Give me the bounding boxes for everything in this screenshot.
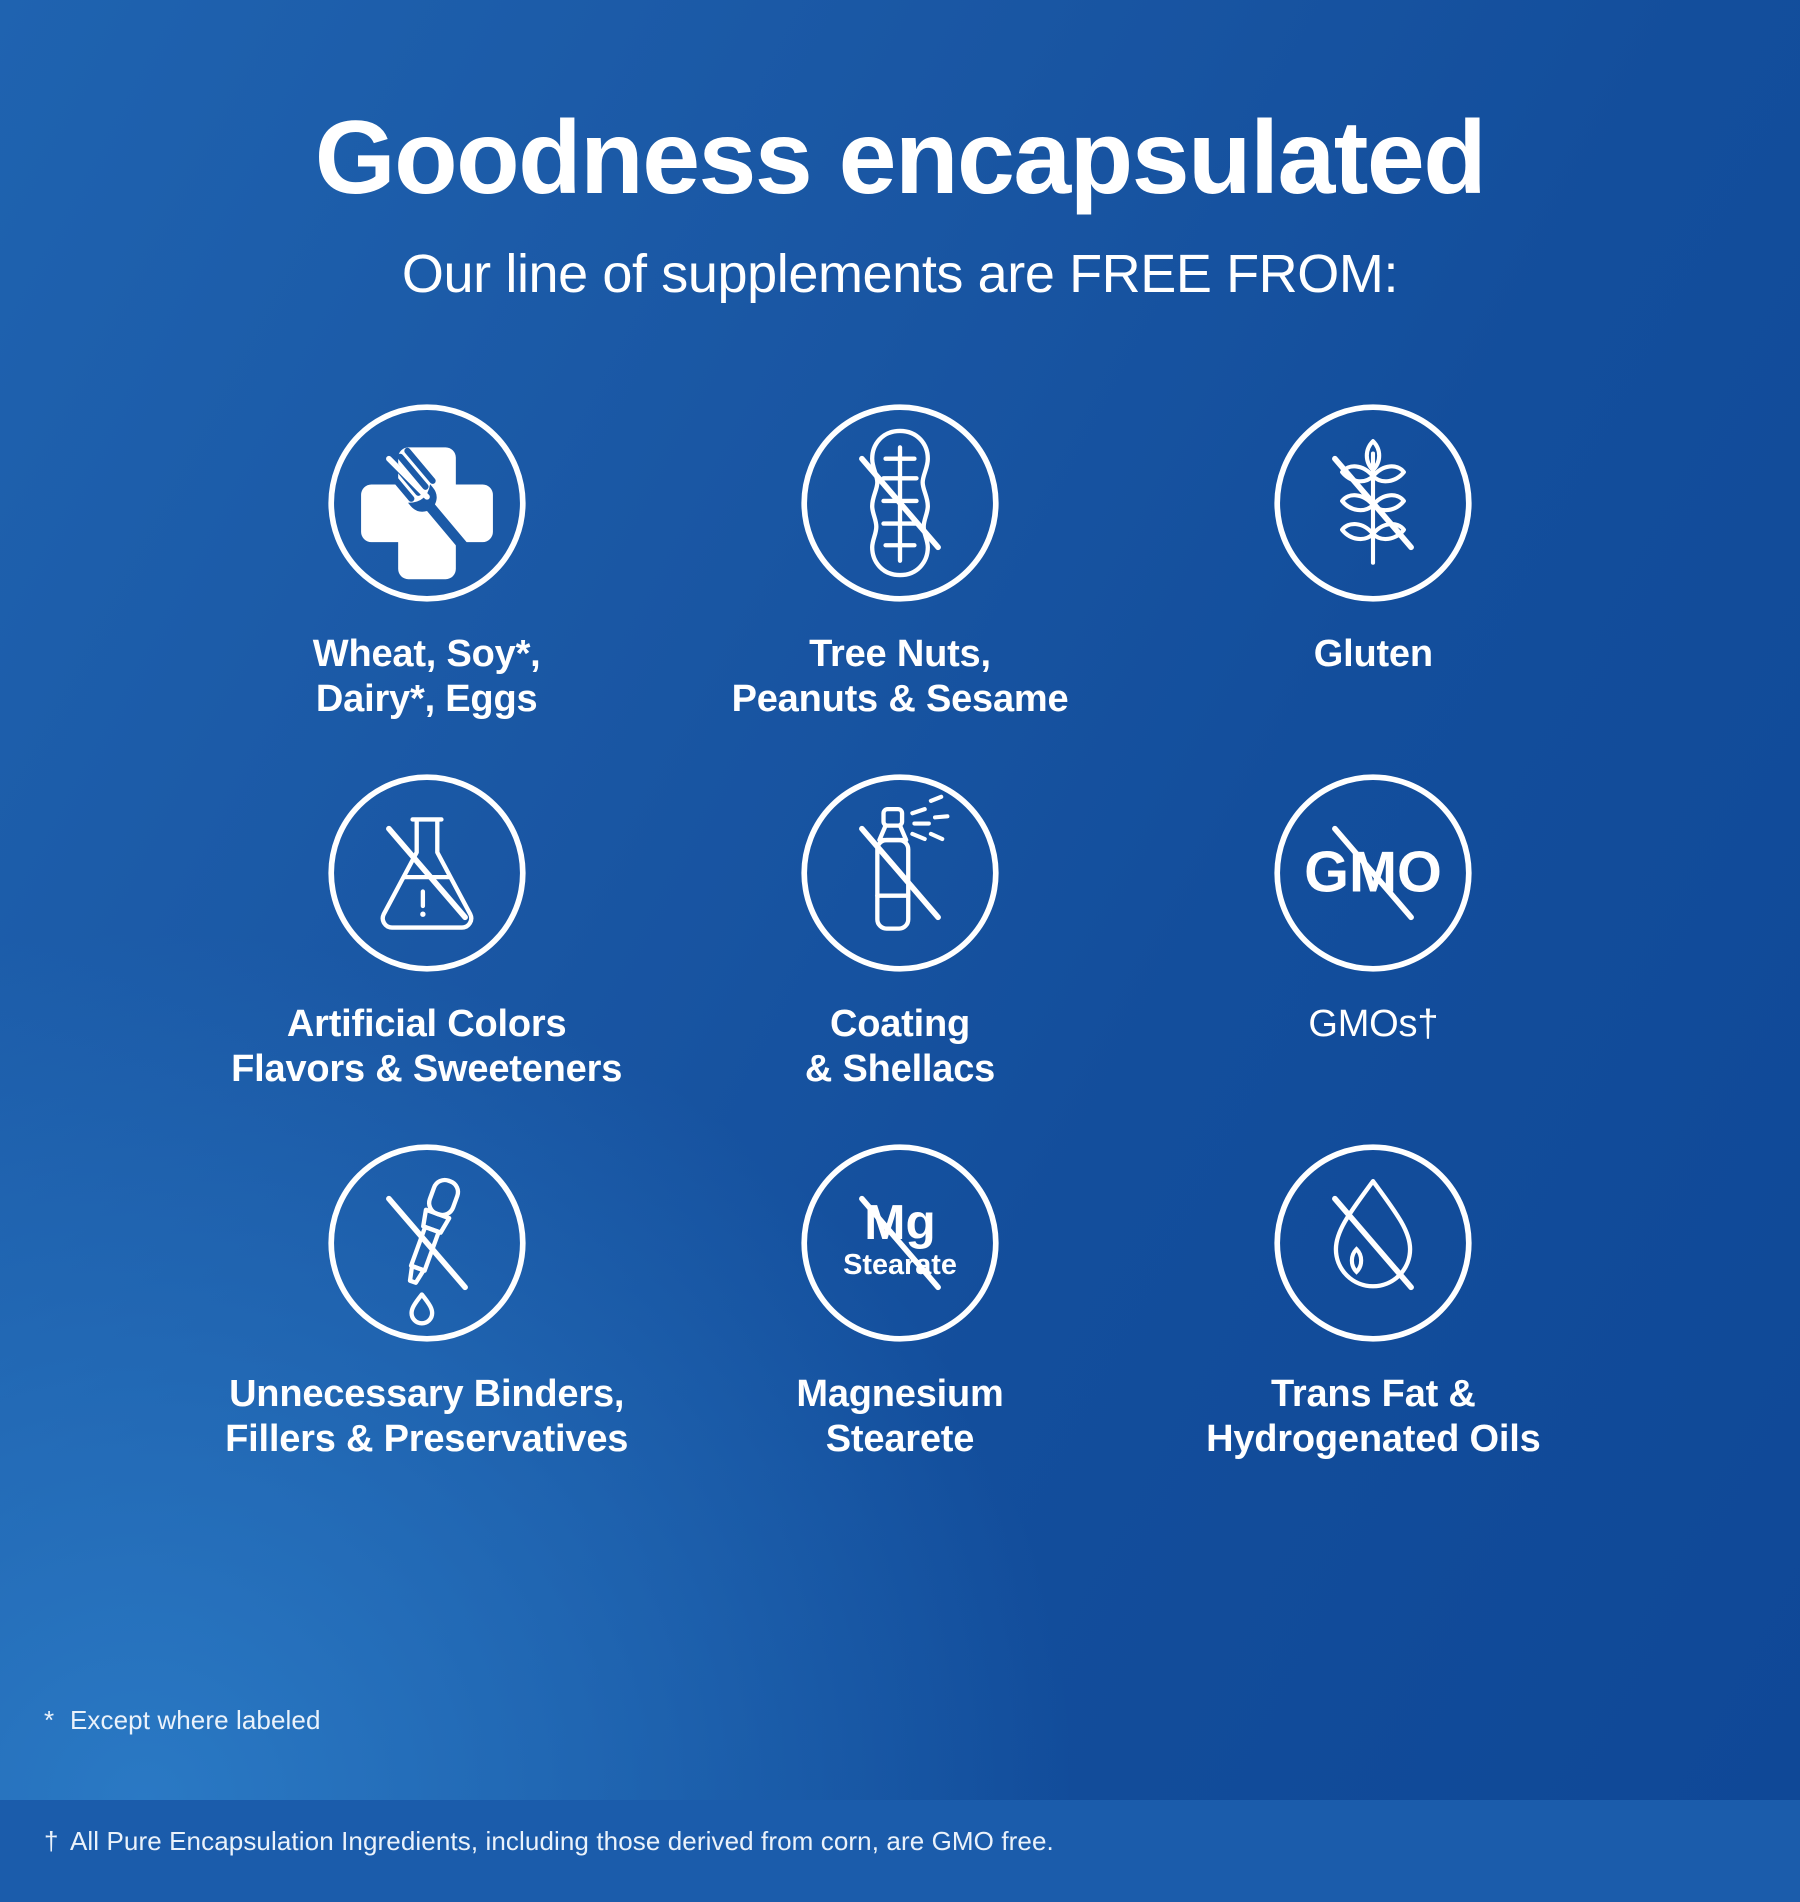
grid-item-gluten: Gluten bbox=[1137, 400, 1610, 770]
grid-item-label: Magnesium Stearete bbox=[796, 1372, 1003, 1462]
no-spray-bottle-icon bbox=[797, 770, 1003, 976]
no-flask-icon bbox=[324, 770, 530, 976]
no-cross-fork-icon bbox=[324, 400, 530, 606]
grid-item-wheat-soy-dairy-eggs: Wheat, Soy*, Dairy*, Eggs bbox=[190, 400, 663, 770]
page-title: Goodness encapsulated bbox=[0, 0, 1800, 211]
no-gmo-text-icon: GMO bbox=[1270, 770, 1476, 976]
no-water-droplet-icon bbox=[1270, 1140, 1476, 1346]
no-mg-stearate-text-icon: Mg Stearate bbox=[797, 1140, 1003, 1346]
no-dropper-icon bbox=[324, 1140, 530, 1346]
footnote-mark: * bbox=[44, 1700, 70, 1740]
infographic-canvas: Goodness encapsulated Our line of supple… bbox=[0, 0, 1800, 1800]
grid-item-unnecessary-binders: Unnecessary Binders, Fillers & Preservat… bbox=[190, 1140, 663, 1510]
footnote-text: Except where labeled bbox=[70, 1705, 321, 1735]
grid-item-label: Coating & Shellacs bbox=[805, 1002, 995, 1092]
grid-item-artificial-colors: Artificial Colors Flavors & Sweeteners bbox=[190, 770, 663, 1140]
grid-item-label: GMOs† bbox=[1308, 1002, 1438, 1047]
no-wheat-stalk-icon bbox=[1270, 400, 1476, 606]
grid-item-label: Artificial Colors Flavors & Sweeteners bbox=[231, 1002, 622, 1092]
footnotes: *Except where labeled †All Pure Encapsul… bbox=[0, 1660, 1800, 1902]
grid-item-tree-nuts-peanuts-sesame: Tree Nuts, Peanuts & Sesame bbox=[663, 400, 1136, 770]
no-peanut-icon bbox=[797, 400, 1003, 606]
grid-item-trans-fat: Trans Fat & Hydrogenated Oils bbox=[1137, 1140, 1610, 1510]
footnote-dagger: †All Pure Encapsulation Ingredients, inc… bbox=[0, 1781, 1800, 1902]
footnote-text: All Pure Encapsulation Ingredients, incl… bbox=[70, 1826, 1054, 1856]
header: Goodness encapsulated Our line of supple… bbox=[0, 0, 1800, 304]
footnote-mark: † bbox=[44, 1821, 70, 1861]
grid-item-label: Unnecessary Binders, Fillers & Preservat… bbox=[225, 1372, 628, 1462]
grid-item-label: Trans Fat & Hydrogenated Oils bbox=[1206, 1372, 1540, 1462]
grid-item-coating-shellacs: Coating & Shellacs bbox=[663, 770, 1136, 1140]
page-subtitle: Our line of supplements are FREE FROM: bbox=[0, 211, 1800, 304]
grid-item-magnesium-stearate: Mg Stearate Magnesium Stearete bbox=[663, 1140, 1136, 1510]
footnote-asterisk: *Except where labeled bbox=[0, 1660, 1800, 1781]
grid-item-label: Tree Nuts, Peanuts & Sesame bbox=[732, 632, 1069, 722]
grid-item-label: Gluten bbox=[1314, 632, 1433, 677]
free-from-grid: Wheat, Soy*, Dairy*, Eggs bbox=[190, 400, 1610, 1510]
grid-item-gmos: GMO GMOs† bbox=[1137, 770, 1610, 1140]
grid-item-label: Wheat, Soy*, Dairy*, Eggs bbox=[313, 632, 541, 722]
stearate-icon-text: Stearate bbox=[843, 1249, 957, 1281]
